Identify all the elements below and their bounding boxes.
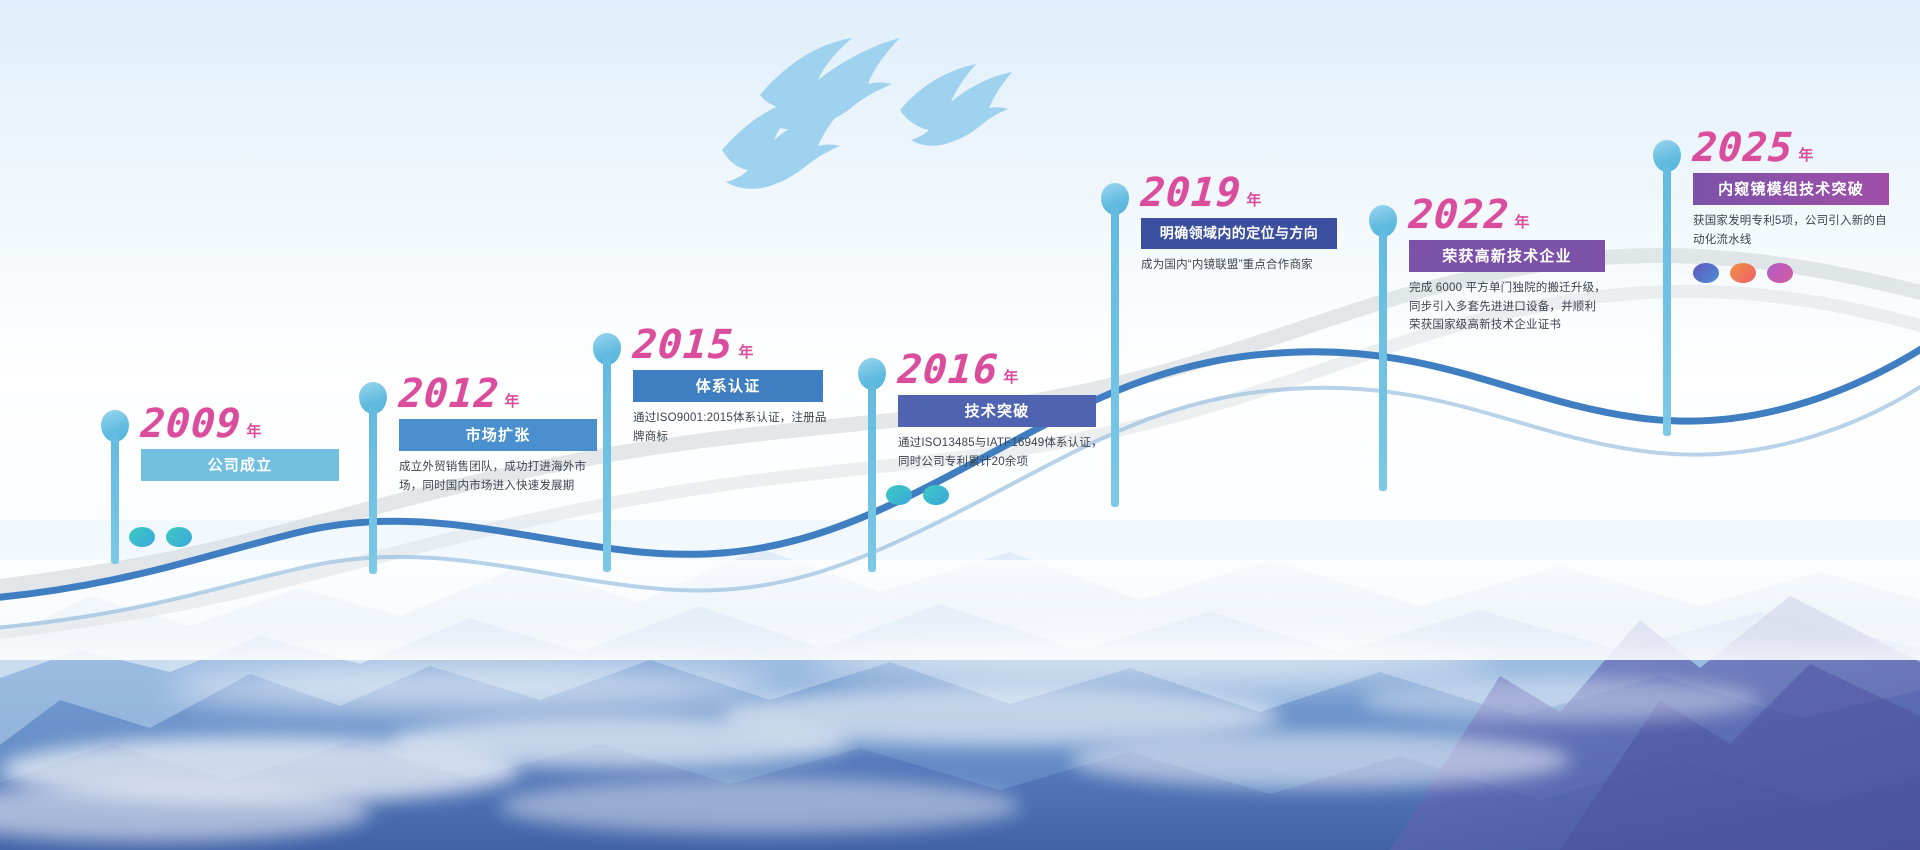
pin-stem	[1379, 229, 1387, 491]
milestone-content: 2016 年 技术突破 通过ISO13485与IATF16949体系认证， 同时…	[898, 350, 1138, 505]
dot-2	[166, 527, 192, 547]
milestone-content: 2015 年 体系认证 通过ISO9001:2015体系认证，注册品 牌商标	[633, 325, 863, 446]
year-suffix: 年	[504, 394, 519, 409]
decorative-dots	[886, 485, 1138, 505]
milestone-description: 完成 6000 平方单门独院的搬迁升级， 同步引入多套先进进口设备，并顺利 荣获…	[1409, 279, 1659, 335]
milestone-title: 明确领域内的定位与方向	[1141, 218, 1337, 249]
pin-stem	[1111, 207, 1119, 507]
year-number: 2015	[632, 325, 735, 365]
year-row: 2009 年	[141, 404, 381, 444]
year-suffix: 年	[1246, 193, 1261, 208]
pin-stem	[111, 434, 119, 564]
year-row: 2015 年	[633, 325, 863, 365]
milestone-title: 体系认证	[633, 370, 823, 402]
milestone-content: 2025 年 内窥镜模组技术突破 获国家发明专利5项，公司引入新的自 动化流水线	[1693, 128, 1920, 283]
timeline-poster: 2009 年 公司成立 2012 年 市场扩张 成立外贸销售团队，成功打进海外市…	[0, 0, 1920, 850]
year-number: 2009	[140, 404, 243, 444]
year-number: 2012	[398, 374, 501, 414]
milestone-content: 2022 年 荣获高新技术企业 完成 6000 平方单门独院的搬迁升级， 同步引…	[1409, 195, 1659, 335]
year-number: 2025	[1692, 128, 1795, 168]
milestone-title: 市场扩张	[399, 419, 597, 451]
pin-stem	[603, 357, 611, 572]
year-suffix: 年	[1514, 215, 1529, 230]
milestone-title: 内窥镜模组技术突破	[1693, 173, 1889, 205]
pin-stem	[868, 382, 876, 572]
dot-3	[1767, 263, 1793, 283]
year-number: 2016	[897, 350, 1000, 390]
year-suffix: 年	[1003, 370, 1018, 385]
year-row: 2016 年	[898, 350, 1138, 390]
year-row: 2025 年	[1693, 128, 1920, 168]
year-suffix: 年	[738, 345, 753, 360]
year-row: 2022 年	[1409, 195, 1659, 235]
dot-2	[1730, 263, 1756, 283]
dot-1	[1693, 263, 1719, 283]
milestone-description: 通过ISO13485与IATF16949体系认证， 同时公司专利累计20余项	[898, 434, 1138, 471]
pin-stem	[1663, 164, 1671, 436]
milestone-description: 获国家发明专利5项，公司引入新的自 动化流水线	[1693, 212, 1920, 249]
dot-2	[923, 485, 949, 505]
decorative-dots	[129, 527, 381, 547]
milestone-description: 通过ISO9001:2015体系认证，注册品 牌商标	[633, 409, 863, 446]
year-suffix: 年	[1798, 148, 1813, 163]
milestone-content: 2009 年 公司成立	[141, 404, 381, 547]
decorative-dots	[1693, 263, 1920, 283]
milestone-title: 荣获高新技术企业	[1409, 240, 1605, 272]
year-suffix: 年	[246, 424, 261, 439]
year-number: 2019	[1140, 173, 1243, 213]
dot-1	[886, 485, 912, 505]
milestone-content: 2019 年 明确领域内的定位与方向 成为国内“内镜联盟”重点合作商家	[1141, 173, 1401, 275]
pin-stem	[369, 406, 377, 574]
milestone-description: 成为国内“内镜联盟”重点合作商家	[1141, 256, 1401, 275]
year-row: 2019 年	[1141, 173, 1401, 213]
dot-1	[129, 527, 155, 547]
milestone-title: 技术突破	[898, 395, 1096, 427]
year-number: 2022	[1408, 195, 1511, 235]
milestone-title: 公司成立	[141, 449, 339, 481]
